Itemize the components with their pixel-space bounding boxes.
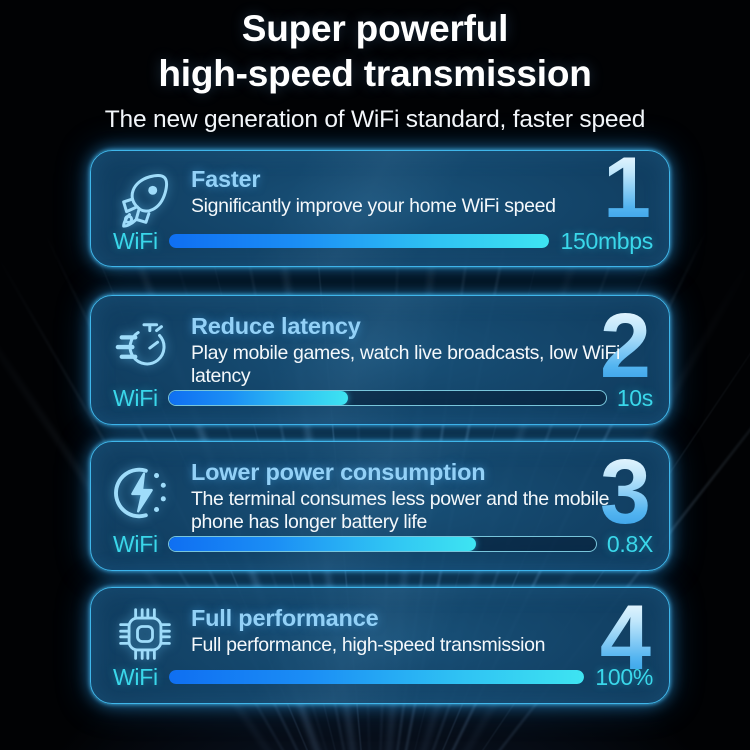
meter-label: WiFi: [113, 531, 158, 557]
wifi-meter: WiFi 100%: [113, 663, 653, 691]
feature-card-lower-power[interactable]: 3 Lower power consumption The terminal c…: [90, 441, 670, 571]
meter-value: 0.8X: [607, 531, 653, 557]
meter-track[interactable]: [168, 390, 607, 406]
meter-value: 10s: [617, 385, 653, 411]
card-text: Lower power consumption The terminal con…: [191, 458, 657, 534]
meter-track[interactable]: [168, 536, 597, 552]
meter-label: WiFi: [113, 385, 158, 411]
header: Super powerful high-speed transmission T…: [0, 0, 750, 135]
rocket-icon: [113, 169, 175, 231]
feature-card-faster[interactable]: 1 Faster Significantly improve your home…: [90, 150, 670, 267]
feature-card-full-performance[interactable]: 4 Full performance Full performance, hig…: [90, 587, 670, 704]
stopwatch-icon: [113, 318, 175, 380]
cpu-chip-icon: [115, 604, 175, 664]
meter-value: 100%: [595, 664, 653, 690]
meter-label: WiFi: [113, 228, 158, 254]
headline-line-1: Super powerful: [242, 8, 509, 49]
feature-card-list: 1 Faster Significantly improve your home…: [90, 150, 670, 704]
card-title: Lower power consumption: [191, 458, 657, 486]
wifi-meter: WiFi 0.8X: [113, 530, 653, 558]
page-title: Super powerful high-speed transmission: [0, 0, 750, 96]
card-text: Full performance Full performance, high-…: [191, 604, 657, 657]
meter-fill: [169, 537, 477, 551]
feature-card-reduce-latency[interactable]: 2 Reduce latency Play mobile games, watc…: [90, 295, 670, 425]
card-title: Faster: [191, 165, 657, 193]
wifi-meter: WiFi 150mbps: [113, 227, 653, 255]
card-description: Significantly improve your home WiFi spe…: [191, 195, 643, 218]
meter-label: WiFi: [113, 664, 158, 690]
meter-fill: [169, 670, 585, 684]
wifi-meter: WiFi 10s: [113, 384, 653, 412]
headline-line-2: high-speed transmission: [158, 53, 591, 94]
card-description: Full performance, high-speed transmissio…: [191, 634, 643, 657]
meter-track[interactable]: [168, 669, 586, 685]
card-description: Play mobile games, watch live broadcasts…: [191, 342, 643, 388]
promo-banner: Super powerful high-speed transmission T…: [0, 0, 750, 750]
meter-fill: [169, 391, 348, 405]
meter-fill: [169, 234, 550, 248]
power-bolt-icon: [111, 462, 173, 524]
card-description: The terminal consumes less power and the…: [191, 488, 643, 534]
card-title: Full performance: [191, 604, 657, 632]
card-text: Faster Significantly improve your home W…: [191, 165, 657, 218]
card-title: Reduce latency: [191, 312, 657, 340]
meter-value: 150mbps: [560, 228, 653, 254]
page-subtitle: The new generation of WiFi standard, fas…: [0, 96, 750, 135]
card-text: Reduce latency Play mobile games, watch …: [191, 312, 657, 388]
meter-track[interactable]: [168, 233, 551, 249]
